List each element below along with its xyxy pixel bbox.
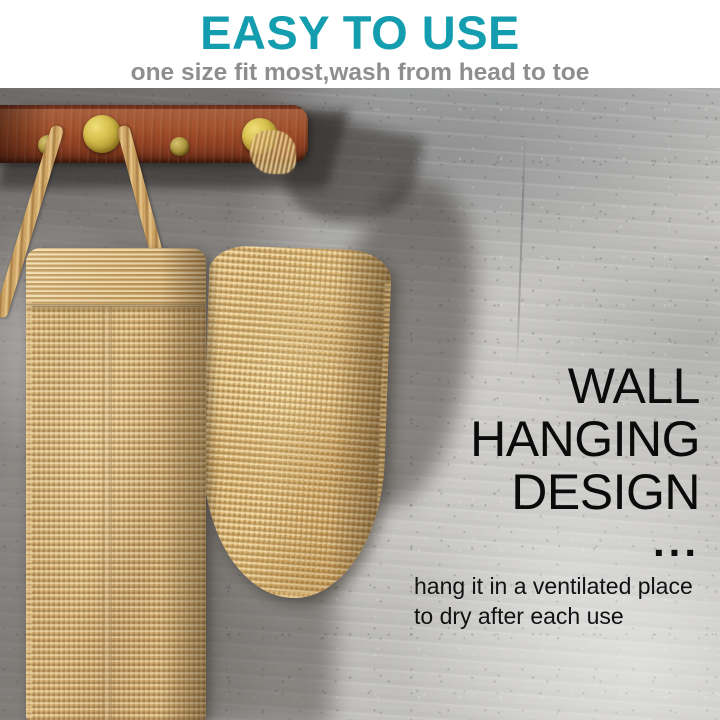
- feature-title-line-2: HANGING: [414, 413, 700, 466]
- brass-peg-left: [83, 115, 121, 153]
- sisal-back-scrubber-bag: [26, 248, 206, 720]
- mitt-hanging-tuft: [250, 130, 296, 174]
- bag-shading: [160, 248, 206, 720]
- feature-body-text: hang it in a ventilated place to dry aft…: [414, 571, 700, 631]
- product-feature-poster: EASY TO USE one size fit most,wash from …: [0, 0, 720, 720]
- header-band: EASY TO USE one size fit most,wash from …: [0, 0, 720, 88]
- feature-text-block: WALL HANGING DESIGN ... hang it in a ven…: [414, 360, 700, 631]
- ellipsis-divider: ...: [414, 529, 700, 555]
- bag-frayed-edge: [26, 298, 32, 718]
- product-photo: WALL HANGING DESIGN ... hang it in a ven…: [0, 88, 720, 720]
- page-title: EASY TO USE: [0, 8, 720, 58]
- brass-screw-right: [170, 137, 189, 156]
- page-subtitle: one size fit most,wash from head to toe: [0, 59, 720, 86]
- sisal-exfoliating-mitt: [198, 245, 392, 601]
- feature-title-line-3: DESIGN: [414, 466, 700, 519]
- bag-center-seam: [102, 306, 112, 720]
- feature-title-line-1: WALL: [414, 360, 700, 413]
